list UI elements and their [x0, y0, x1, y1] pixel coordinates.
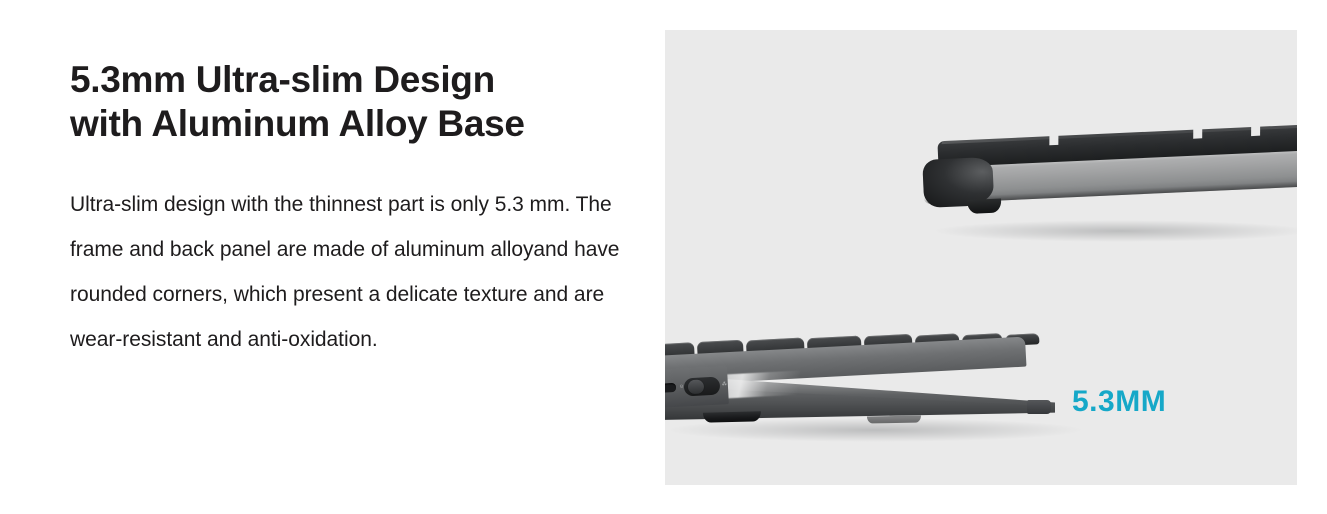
keycap-cluster-gap — [1251, 122, 1260, 136]
upper-keyboard-shadow — [931, 220, 1297, 242]
product-image-panel: ☺ ⁂ 5.3MM — [665, 30, 1297, 485]
product-photo: ☺ ⁂ 5.3MM — [665, 30, 1297, 485]
usb-c-port-icon — [665, 383, 676, 393]
lower-keyboard-thin-edge-tip — [1027, 400, 1051, 414]
thickness-measurement-label: 5.3MM — [1072, 385, 1166, 419]
lower-keyboard-rubber-foot — [703, 411, 761, 423]
text-column: 5.3mm Ultra-slim Design with Aluminum Al… — [70, 58, 640, 362]
keycap-cluster-gap — [1193, 126, 1202, 138]
bluetooth-icon: ⁂ — [722, 382, 727, 387]
lower-keyboard-unit: ☺ ⁂ — [665, 330, 1065, 440]
keycap-cluster-gap — [1049, 133, 1058, 145]
upper-keyboard-unit — [921, 111, 1297, 225]
feature-description: Ultra-slim design with the thinnest part… — [70, 146, 640, 362]
lower-keyboard-left-endcap: ☺ ⁂ — [665, 366, 729, 408]
feature-section: 5.3mm Ultra-slim Design with Aluminum Al… — [0, 0, 1327, 514]
lower-keyboard-rubber-foot — [867, 416, 921, 424]
page-title: 5.3mm Ultra-slim Design with Aluminum Al… — [70, 58, 640, 146]
upper-keyboard-rubber-foot — [967, 198, 1002, 214]
power-icon: ☺ — [679, 384, 684, 389]
